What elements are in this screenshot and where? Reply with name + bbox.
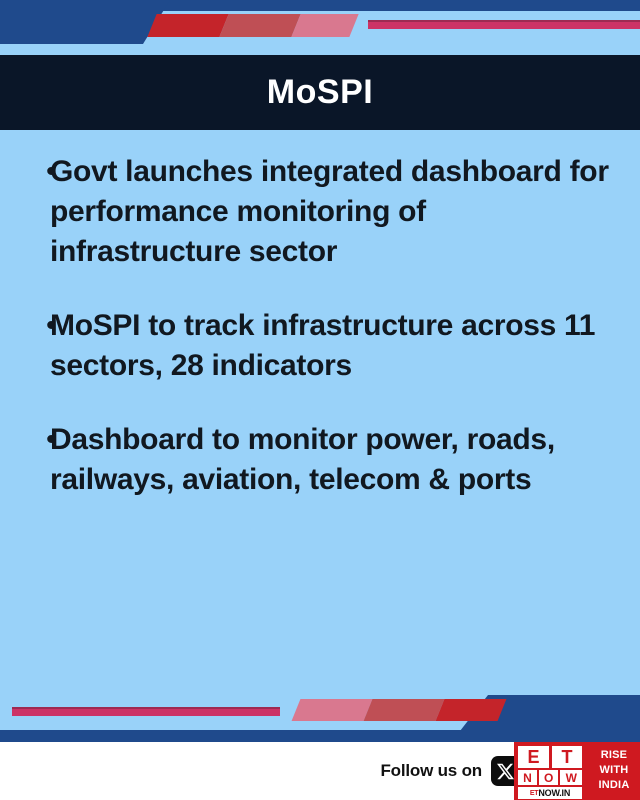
bottom-accent-bar-pink bbox=[292, 699, 373, 721]
top-accent-bar-pink bbox=[291, 14, 358, 37]
list-item: • MoSPI to track infrastructure across 1… bbox=[24, 306, 616, 386]
top-accent-line-edge bbox=[368, 20, 640, 22]
bottom-navy-strip bbox=[0, 730, 640, 742]
top-decorative-banner bbox=[0, 0, 640, 55]
bullet-text: MoSPI to track infrastructure across 11 … bbox=[50, 306, 616, 386]
etnow-letter-e: E bbox=[518, 746, 549, 768]
bottom-accent-bar-mid bbox=[364, 699, 445, 721]
etnow-logo-mark: E T N O W ETNOW.IN bbox=[514, 742, 586, 800]
etnow-now-row: N O W bbox=[518, 770, 582, 785]
follow-us-label: Follow us on bbox=[380, 761, 481, 781]
etnow-letter-w: W bbox=[560, 770, 582, 785]
etnow-url-main: NOW.IN bbox=[538, 788, 570, 798]
top-accent-bar-mid bbox=[219, 14, 300, 37]
etnow-website-url: ETNOW.IN bbox=[518, 787, 582, 799]
etnow-letter-o: O bbox=[539, 770, 559, 785]
bullet-text: Dashboard to monitor power, roads, railw… bbox=[50, 420, 616, 500]
list-item: • Govt launches integrated dashboard for… bbox=[24, 152, 616, 272]
etnow-logo[interactable]: E T N O W ETNOW.IN RISE WITH INDIA bbox=[514, 742, 640, 800]
bottom-accent-line-edge bbox=[12, 707, 280, 709]
tagline-line-3: INDIA bbox=[599, 779, 630, 793]
bottom-accent-bar-red bbox=[436, 699, 507, 721]
tagline-line-2: WITH bbox=[600, 764, 629, 778]
bullet-list: • Govt launches integrated dashboard for… bbox=[24, 152, 616, 500]
top-navy-wedge bbox=[0, 0, 170, 44]
etnow-url-prefix: ET bbox=[530, 790, 539, 797]
bottom-decorative-banner bbox=[0, 695, 640, 742]
top-accent-bar-red bbox=[147, 14, 228, 37]
etnow-letter-t: T bbox=[552, 746, 582, 768]
page-title: MoSPI bbox=[267, 73, 373, 112]
etnow-logo-divider bbox=[72, 742, 74, 800]
bullet-marker-icon: • bbox=[24, 306, 50, 346]
etnow-tagline: RISE WITH INDIA bbox=[586, 742, 640, 800]
bullet-marker-icon: • bbox=[24, 420, 50, 460]
title-bar: MoSPI bbox=[0, 55, 640, 130]
bullet-marker-icon: • bbox=[24, 152, 50, 192]
bullet-text: Govt launches integrated dashboard for p… bbox=[50, 152, 616, 272]
tagline-line-1: RISE bbox=[601, 749, 627, 763]
etnow-letter-n: N bbox=[518, 770, 537, 785]
list-item: • Dashboard to monitor power, roads, rai… bbox=[24, 420, 616, 500]
etnow-et-row: E T bbox=[518, 746, 582, 768]
content-area: • Govt launches integrated dashboard for… bbox=[0, 130, 640, 695]
